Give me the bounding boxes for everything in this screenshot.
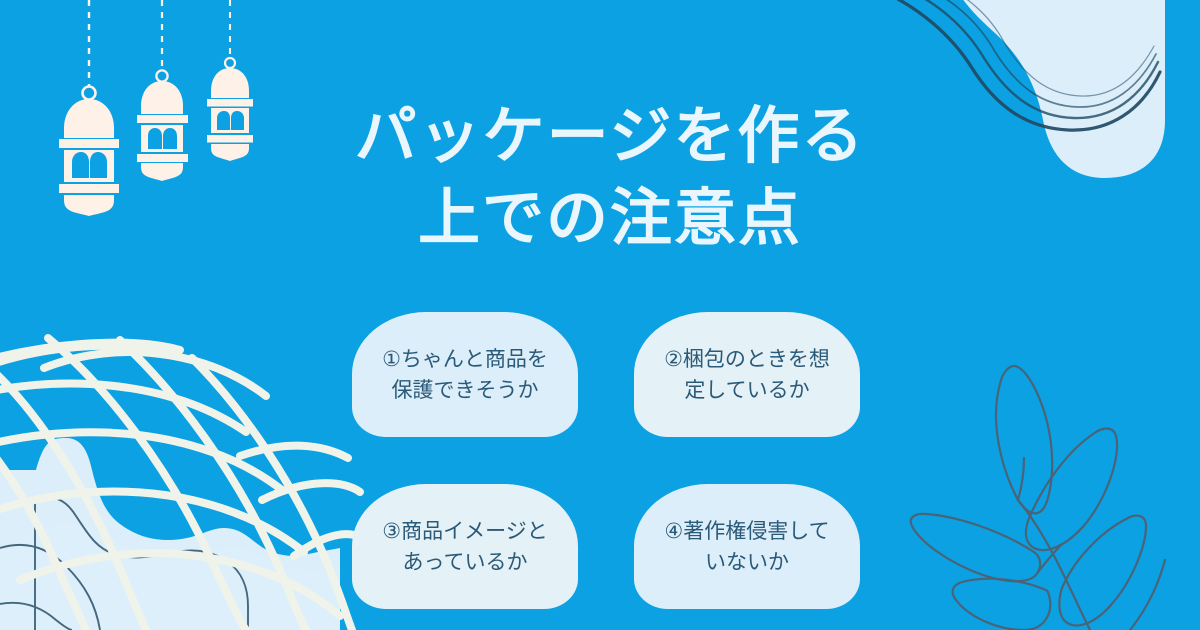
contour-lines (0, 498, 248, 630)
lantern-icon-1 (59, 0, 119, 216)
globe-grid-mesh-right (240, 446, 362, 556)
page-title: パッケージを作る 上での注意点 (300, 96, 920, 260)
page-title-line-2: 上での注意点 (300, 178, 920, 260)
wave-lines (880, 0, 1160, 130)
bubble-3-line-2: あっているか (403, 547, 528, 578)
poster-canvas: パッケージを作る 上での注意点 ①ちゃんと商品を 保護できそうか ②梱包のときを… (0, 0, 1200, 630)
checklist-bubble-3[interactable]: ③商品イメージと あっているか (352, 484, 578, 609)
top-right-light-blob (952, 0, 1165, 178)
globe-grid-mesh (0, 338, 352, 630)
bubble-3-line-1: ③商品イメージと (382, 516, 547, 547)
bubble-2-line-2: 定しているか (684, 375, 809, 406)
bubble-4-line-1: ④著作権侵害して (664, 516, 829, 547)
lantern-icon-2 (137, 0, 188, 181)
checklist-bubble-1[interactable]: ①ちゃんと商品を 保護できそうか (352, 312, 578, 437)
bubble-1-line-1: ①ちゃんと商品を (382, 344, 548, 375)
bottom-left-blob (0, 438, 340, 630)
checklist-bubbles: ①ちゃんと商品を 保護できそうか ②梱包のときを想 定しているか ③商品イメージ… (352, 312, 860, 612)
wave-blob-shape (930, 0, 1104, 200)
checklist-bubble-4[interactable]: ④著作権侵害して いないか (634, 484, 860, 609)
bubble-4-line-2: いないか (705, 547, 789, 578)
page-title-line-1: パッケージを作る (300, 96, 920, 178)
checklist-bubble-2[interactable]: ②梱包のときを想 定しているか (634, 312, 860, 437)
bubble-2-line-1: ②梱包のときを想 (664, 344, 830, 375)
bubble-1-line-2: 保護できそうか (392, 375, 539, 406)
leaf-branch-icon (911, 366, 1165, 630)
lantern-icon-3 (207, 0, 253, 161)
